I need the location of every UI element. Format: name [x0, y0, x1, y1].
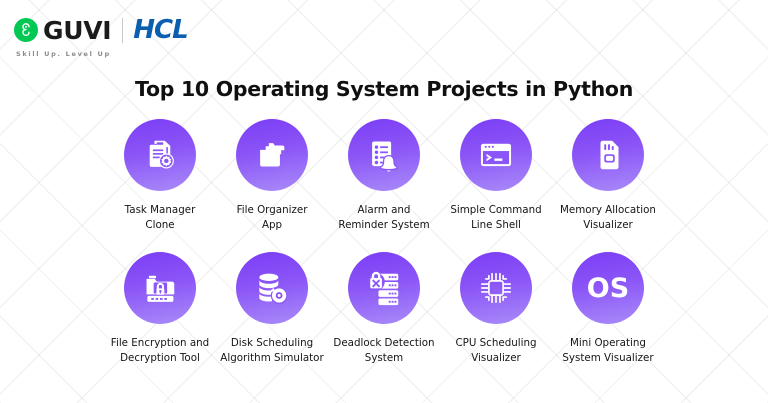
caption-line-2: Clone	[145, 219, 174, 231]
caption-line-2: System	[365, 352, 403, 364]
caption-line-1: Simple Command	[450, 204, 541, 216]
project-item-cpu-scheduling-visualizer[interactable]: CPU Scheduling Visualizer	[440, 252, 552, 365]
server-lock-x-icon	[348, 252, 420, 324]
project-item-deadlock-detection-system[interactable]: Deadlock Detection System	[328, 252, 440, 365]
os-text-icon: OS	[572, 252, 644, 324]
project-caption: Mini Operating System Visualizer	[547, 336, 669, 365]
project-item-file-organizer-app[interactable]: File Organizer App	[216, 119, 328, 232]
project-item-mini-operating-system-visualizer[interactable]: OS Mini Operating System Visualizer	[552, 252, 664, 365]
brand-divider	[122, 18, 123, 43]
project-caption: File Organizer App	[211, 203, 333, 232]
caption-line-1: Memory Allocation	[560, 204, 656, 216]
project-caption: Task Manager Clone	[99, 203, 221, 232]
project-item-file-encryption-decryption-tool[interactable]: File Encryption and Decryption Tool	[104, 252, 216, 365]
locked-folder-icon	[124, 252, 196, 324]
partner-name: HCL	[133, 17, 187, 43]
caption-line-2: Reminder System	[338, 219, 429, 231]
project-row-2: File Encryption and Decryption Tool	[0, 252, 768, 365]
project-caption: File Encryption and Decryption Tool	[99, 336, 221, 365]
caption-line-1: Task Manager	[125, 204, 196, 216]
project-caption: Memory Allocation Visualizer	[547, 203, 669, 232]
terminal-window-icon	[460, 119, 532, 191]
caption-line-2: App	[262, 219, 282, 231]
project-caption: Alarm and Reminder System	[323, 203, 445, 232]
project-caption: Deadlock Detection System	[323, 336, 445, 365]
infographic-page: GUVI HCL Skill Up. Level Up Top 10 Opera…	[0, 0, 768, 403]
brand-row: GUVI HCL	[14, 14, 188, 46]
project-item-disk-scheduling-algorithm-simulator[interactable]: Disk Scheduling Algorithm Simulator	[216, 252, 328, 365]
caption-line-2: Visualizer	[583, 219, 633, 231]
folders-icon	[236, 119, 308, 191]
caption-line-1: Alarm and	[358, 204, 411, 216]
caption-line-2: Line Shell	[471, 219, 521, 231]
project-caption: Disk Scheduling Algorithm Simulator	[211, 336, 333, 365]
caption-line-2: Decryption Tool	[120, 352, 200, 364]
brand-tagline: Skill Up. Level Up	[16, 50, 188, 58]
caption-line-1: CPU Scheduling	[455, 337, 536, 349]
cpu-chip-icon	[460, 252, 532, 324]
caption-line-1: Disk Scheduling	[231, 337, 313, 349]
caption-line-2: System Visualizer	[562, 352, 653, 364]
checklist-bell-icon	[348, 119, 420, 191]
project-item-memory-allocation-visualizer[interactable]: Memory Allocation Visualizer	[552, 119, 664, 232]
caption-line-1: File Encryption and	[111, 337, 209, 349]
memory-card-icon	[572, 119, 644, 191]
caption-line-2: Algorithm Simulator	[220, 352, 323, 364]
caption-line-1: Mini Operating	[570, 337, 646, 349]
brand-name: GUVI	[43, 18, 111, 43]
page-title: Top 10 Operating System Projects in Pyth…	[0, 77, 768, 101]
project-row-1: Task Manager Clone File Organizer App	[0, 119, 768, 232]
project-item-alarm-reminder-system[interactable]: Alarm and Reminder System	[328, 119, 440, 232]
project-caption: CPU Scheduling Visualizer	[435, 336, 557, 365]
brand-lockup: GUVI HCL Skill Up. Level Up	[14, 14, 188, 58]
project-item-task-manager-clone[interactable]: Task Manager Clone	[104, 119, 216, 232]
caption-line-2: Visualizer	[471, 352, 521, 364]
database-disc-icon	[236, 252, 308, 324]
project-item-simple-command-line-shell[interactable]: Simple Command Line Shell	[440, 119, 552, 232]
project-caption: Simple Command Line Shell	[435, 203, 557, 232]
guvi-g-icon	[14, 18, 38, 42]
document-gear-icon	[124, 119, 196, 191]
caption-line-1: File Organizer	[237, 204, 308, 216]
caption-line-1: Deadlock Detection	[333, 337, 434, 349]
os-label: OS	[587, 275, 629, 302]
